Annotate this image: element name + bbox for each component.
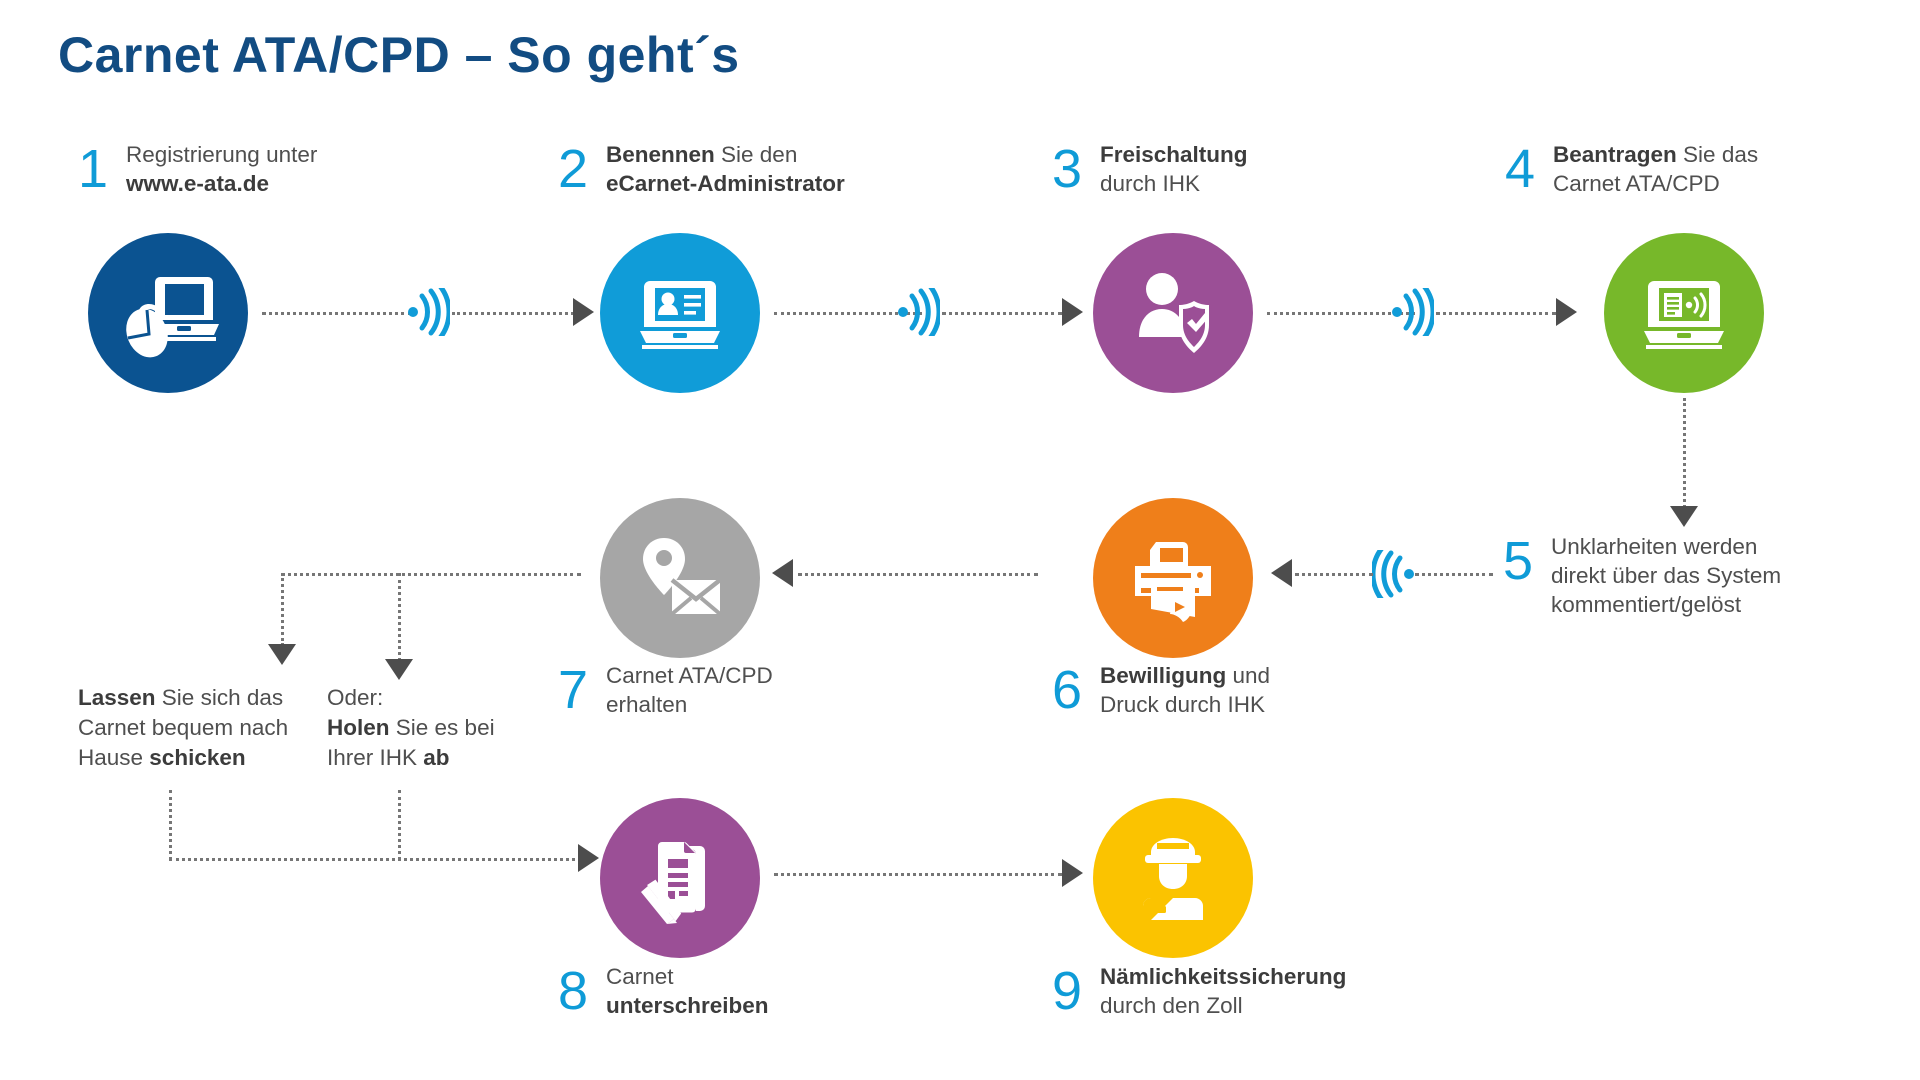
connector-6-7-arrow: [772, 559, 793, 587]
location-pin-envelope-icon: [628, 526, 732, 630]
connector-3-4-dotted-b: [1436, 312, 1556, 315]
branch-right-line-2-bold: Holen: [327, 715, 390, 740]
laptop-document-signal-icon: [1632, 261, 1736, 365]
connector-8-9-arrow: [1062, 859, 1083, 887]
step-1-icon-circle[interactable]: [88, 233, 248, 393]
step-7-text: Carnet ATA/CPD erhalten: [600, 661, 773, 719]
branch-left-vertical-dotted: [281, 573, 284, 646]
document-pen-sign-icon: [628, 826, 732, 930]
step-8-label: 8 Carnet unterschreiben: [558, 962, 769, 1020]
connector-8-9-dotted: [774, 873, 1062, 876]
step-2-text: Benennen Sie den eCarnet-Administrator: [600, 140, 845, 198]
connector-1-2-signal-icon: [408, 288, 450, 341]
connector-1-2-arrow: [573, 298, 594, 326]
step-9-line-1: Nämlichkeitssicherung: [1100, 964, 1346, 989]
step-6-label: 6 Bewilligung und Druck durch IHK: [1052, 661, 1270, 719]
step-9-line-2: durch den Zoll: [1100, 991, 1346, 1020]
step-1-line-1: Registrierung unter: [126, 140, 317, 169]
step-8-line-2: unterschreiben: [606, 993, 769, 1018]
branch-right-merge-vertical: [398, 790, 401, 860]
step-5-text: Unklarheiten werden direkt über das Syst…: [1545, 532, 1781, 619]
branch-left-arrow: [268, 644, 296, 665]
step-5-number: 5: [1503, 534, 1545, 588]
laptop-user-card-icon: [628, 261, 732, 365]
step-9-text: Nämlichkeitssicherung durch den Zoll: [1094, 962, 1346, 1020]
step-6-line-2: Druck durch IHK: [1100, 690, 1270, 719]
branch-right-line-3-rest: Ihrer IHK: [327, 745, 423, 770]
step-4-line-2: Carnet ATA/CPD: [1553, 169, 1758, 198]
branch-right-line-2-rest: Sie es bei: [390, 715, 495, 740]
step-4-line-1-bold: Beantragen: [1553, 142, 1677, 167]
person-shield-check-icon: [1121, 261, 1225, 365]
step-9-number: 9: [1052, 964, 1094, 1018]
step-8-number: 8: [558, 964, 600, 1018]
branch-right-text: Oder: Holen Sie es bei Ihrer IHK ab: [327, 683, 495, 773]
connector-5-6-dotted-b: [1295, 573, 1373, 576]
step-2-number: 2: [558, 142, 600, 196]
branch-right-line-1: Oder:: [327, 683, 495, 713]
step-5-line-2: direkt über das System: [1551, 561, 1781, 590]
step-3-icon-circle[interactable]: [1093, 233, 1253, 393]
connector-1-2-dotted-a: [262, 312, 412, 315]
step-5-line-1: Unklarheiten werden: [1551, 532, 1781, 561]
step-7-line-1: Carnet ATA/CPD: [606, 661, 773, 690]
step-4-icon-circle[interactable]: [1604, 233, 1764, 393]
step-7-icon-circle[interactable]: [600, 498, 760, 658]
step-3-line-2: durch IHK: [1100, 169, 1248, 198]
step-9-icon-circle[interactable]: [1093, 798, 1253, 958]
step-5-line-3: kommentiert/gelöst: [1551, 590, 1781, 619]
step-8-text: Carnet unterschreiben: [600, 962, 769, 1020]
step-3-text: Freischaltung durch IHK: [1094, 140, 1248, 198]
branch-merge-arrow: [578, 844, 599, 872]
page-title: Carnet ATA/CPD – So geht´s: [58, 26, 740, 84]
laptop-mouse-icon: [116, 261, 220, 365]
branch-left-line-3-rest: Hause: [78, 745, 149, 770]
infographic-canvas: Carnet ATA/CPD – So geht´s 1 Registrieru…: [0, 0, 1920, 1080]
step-2-icon-circle[interactable]: [600, 233, 760, 393]
step-4-text: Beantragen Sie das Carnet ATA/CPD: [1547, 140, 1758, 198]
step-4-number: 4: [1505, 142, 1547, 196]
step-6-icon-circle[interactable]: [1093, 498, 1253, 658]
step-7-label: 7 Carnet ATA/CPD erhalten: [558, 661, 773, 719]
connector-5-6-dotted-a: [1415, 573, 1493, 576]
branch-left-line-1-rest: Sie sich das: [156, 685, 284, 710]
printer-document-icon: [1121, 526, 1225, 630]
branch-left-line-2: Carnet bequem nach: [78, 713, 288, 743]
branch-horizontal-dotted: [281, 573, 581, 576]
branch-right-vertical-dotted: [398, 573, 401, 661]
step-1-number: 1: [78, 142, 120, 196]
step-2-label: 2 Benennen Sie den eCarnet-Administrator: [558, 140, 845, 198]
step-6-text: Bewilligung und Druck durch IHK: [1094, 661, 1270, 719]
branch-left-merge-vertical: [169, 790, 172, 860]
step-3-line-1: Freischaltung: [1100, 142, 1248, 167]
connector-1-2-dotted-b: [452, 312, 574, 315]
step-6-line-1-rest: und: [1226, 663, 1270, 688]
step-2-line-1-rest: Sie den: [715, 142, 798, 167]
connector-4-5-dotted: [1683, 398, 1686, 508]
step-4-label: 4 Beantragen Sie das Carnet ATA/CPD: [1505, 140, 1758, 198]
connector-6-7-dotted: [798, 573, 1038, 576]
step-9-label: 9 Nämlichkeitssicherung durch den Zoll: [1052, 962, 1346, 1020]
step-6-number: 6: [1052, 663, 1094, 717]
customs-officer-icon: [1121, 826, 1225, 930]
connector-5-6-signal-icon: [1372, 550, 1414, 603]
connector-2-3-arrow: [1062, 298, 1083, 326]
step-3-number: 3: [1052, 142, 1094, 196]
step-5-label: 5 Unklarheiten werden direkt über das Sy…: [1503, 532, 1781, 619]
branch-left-text: Lassen Sie sich das Carnet bequem nach H…: [78, 683, 288, 773]
step-8-line-1: Carnet: [606, 962, 769, 991]
connector-2-3-dotted-b: [942, 312, 1062, 315]
connector-5-6-arrow: [1271, 559, 1292, 587]
connector-4-5-arrow: [1670, 506, 1698, 527]
step-7-number: 7: [558, 663, 600, 717]
branch-merge-horizontal: [169, 858, 581, 861]
branch-left-line-1-bold: Lassen: [78, 685, 156, 710]
step-1-label: 1 Registrierung unter www.e-ata.de: [78, 140, 317, 198]
step-2-line-1-bold: Benennen: [606, 142, 715, 167]
step-1-line-2: www.e-ata.de: [126, 171, 269, 196]
branch-left-line-3-bold: schicken: [149, 745, 245, 770]
connector-3-4-signal-icon: [1392, 288, 1434, 341]
connector-2-3-signal-icon: [898, 288, 940, 341]
branch-right-arrow: [385, 659, 413, 680]
branch-right-line-3-bold: ab: [423, 745, 449, 770]
step-8-icon-circle[interactable]: [600, 798, 760, 958]
step-1-text: Registrierung unter www.e-ata.de: [120, 140, 317, 198]
connector-3-4-arrow: [1556, 298, 1577, 326]
step-4-line-1-rest: Sie das: [1677, 142, 1758, 167]
step-7-line-2: erhalten: [606, 690, 773, 719]
step-3-label: 3 Freischaltung durch IHK: [1052, 140, 1248, 198]
step-2-line-2: eCarnet-Administrator: [606, 171, 845, 196]
step-6-line-1-bold: Bewilligung: [1100, 663, 1226, 688]
